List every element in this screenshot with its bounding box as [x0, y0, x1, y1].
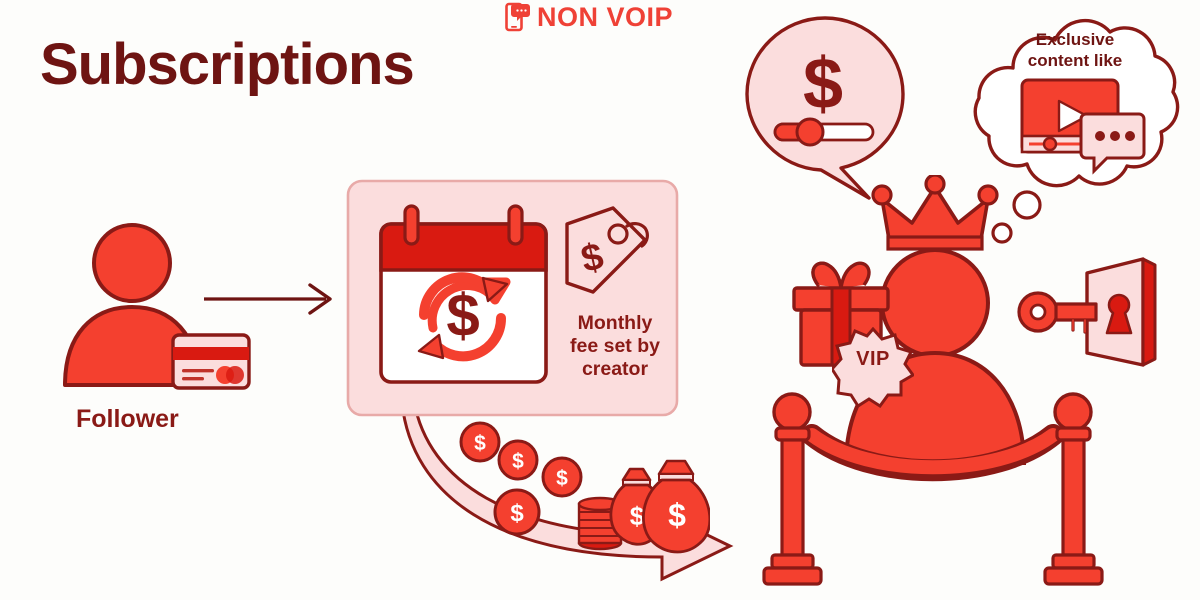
- caption-line: Monthly: [560, 312, 670, 335]
- caption-line: Exclusive: [1005, 29, 1145, 50]
- caption-line: creator: [560, 358, 670, 381]
- dollar-coin-icon: $: [499, 441, 537, 479]
- phone-chat-icon: [505, 2, 531, 32]
- caption-line: fee set by: [560, 335, 670, 358]
- money-bags-group: $ $: [575, 450, 710, 560]
- plan-card-caption: Monthly fee set by creator: [560, 312, 670, 381]
- page-title: Subscriptions: [40, 30, 414, 100]
- stanchion-post: [1045, 394, 1102, 584]
- crown-icon: [873, 175, 997, 249]
- vip-badge-label: VIP: [845, 348, 901, 371]
- svg-text:$: $: [512, 450, 524, 473]
- plan-card[interactable]: $ $: [345, 178, 680, 418]
- price-slider-icon: [775, 119, 873, 145]
- svg-text:$: $: [446, 282, 479, 349]
- svg-text:$: $: [556, 467, 568, 490]
- money-bag-icon: $: [643, 461, 709, 552]
- credit-card-icon: [173, 335, 249, 388]
- dollar-coin-icon: $: [495, 490, 539, 534]
- caption-line: content like: [1005, 50, 1145, 71]
- dollar-coin-icon: $: [461, 423, 499, 461]
- stanchion-post: [764, 394, 821, 584]
- svg-text:$: $: [668, 497, 686, 533]
- velvet-rope-icon: [760, 390, 1105, 595]
- infographic-canvas: NON VOIP Subscriptions Follower $: [0, 0, 1200, 600]
- logo-text: NON VOIP: [537, 4, 673, 31]
- dollar-sign-icon: $: [803, 44, 843, 124]
- svg-text:$: $: [510, 500, 524, 527]
- svg-text:$: $: [474, 432, 486, 455]
- follower-label: Follower: [76, 405, 179, 434]
- pricing-speech-bubble: $: [735, 12, 915, 202]
- right-arrow-icon: [200, 280, 340, 318]
- brand-logo: NON VOIP: [505, 2, 673, 32]
- thought-cloud-caption: Exclusive content like: [1005, 29, 1145, 72]
